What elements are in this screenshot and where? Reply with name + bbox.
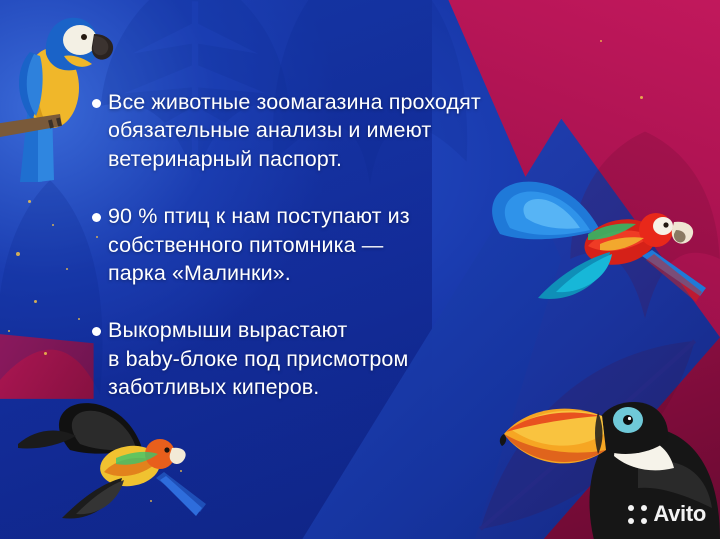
bullet-dot-icon [92,213,101,222]
background-magenta-left-slab [0,334,94,399]
gold-speck [640,96,643,99]
list-item: Все животные зоомагазина проходят обязат… [92,88,532,173]
list-item: 90 % птиц к нам поступают из собственног… [92,202,532,287]
gold-speck [34,300,37,303]
bullet-dot-icon [92,99,101,108]
gold-speck [180,470,182,472]
avito-watermark-label: Avito [653,501,706,527]
bullet-text: Все животные зоомагазина проходят обязат… [108,88,481,173]
gold-speck [44,352,47,355]
gold-speck [52,224,54,226]
list-item: Выкормыши вырастают в baby-блоке под при… [92,316,532,401]
banner-canvas: Все животные зоомагазина проходят обязат… [0,0,720,539]
gold-speck [120,470,123,473]
gold-speck [28,200,31,203]
bullet-text: Выкормыши вырастают в baby-блоке под при… [108,316,408,401]
avito-watermark: Avito [628,501,706,527]
avito-dots-logo-icon [628,505,647,524]
bullet-list: Все животные зоомагазина проходят обязат… [92,88,532,430]
gold-speck [150,500,152,502]
gold-speck [16,252,20,256]
gold-speck [66,268,68,270]
bullet-dot-icon [92,327,101,336]
bullet-text: 90 % птиц к нам поступают из собственног… [108,202,410,287]
gold-speck [78,318,80,320]
gold-speck [600,40,602,42]
gold-speck [8,330,10,332]
